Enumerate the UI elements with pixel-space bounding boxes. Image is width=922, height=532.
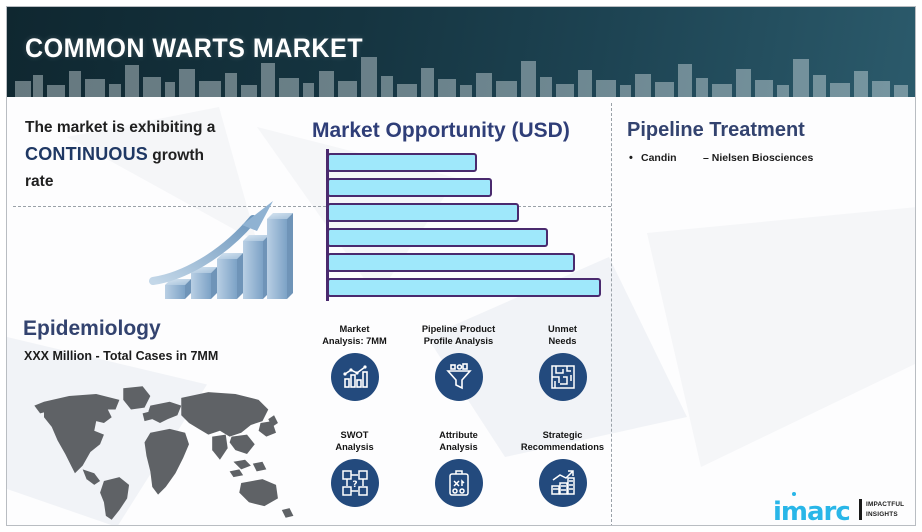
- pipeline-drug-name: Candin: [641, 152, 703, 164]
- intro-line-3: rate: [25, 173, 53, 190]
- grid-item-strategic-recommendations[interactable]: Strategic Recommendations: [512, 429, 613, 507]
- grid-label-line1: Strategic: [512, 429, 613, 441]
- logo-tagline: IMPACTFUL INSIGHTS: [866, 500, 904, 519]
- world-map-icon: [15, 379, 305, 526]
- clipboard-strategy-icon: [435, 459, 483, 507]
- chart-bar-4: [327, 228, 548, 247]
- bullet-icon: •: [629, 152, 641, 165]
- grid-label-line2: Analysis: [408, 441, 509, 453]
- grid-label-line1: SWOT: [304, 429, 405, 441]
- chart-bar-3: [327, 203, 519, 222]
- grid-label-line2: Analysis: 7MM: [304, 335, 405, 347]
- imarc-logo: imarc IMPACTFUL INSIGHTS: [773, 491, 913, 526]
- maze-icon: [539, 353, 587, 401]
- slide-frame: COMMON WARTS MARKET The market is exhibi…: [6, 6, 916, 526]
- logo-dot-icon: [792, 492, 796, 496]
- market-opportunity-chart: [320, 149, 610, 307]
- pipeline-treatment-title: Pipeline Treatment: [627, 119, 805, 142]
- grid-label-line1: Unmet: [512, 323, 613, 335]
- logo-separator: [859, 499, 862, 520]
- intro-highlight: CONTINUOUS: [25, 144, 148, 164]
- grid-label-line1: Pipeline Product: [408, 323, 509, 335]
- grid-label-line1: Attribute: [408, 429, 509, 441]
- chart-bar-5: [327, 253, 575, 272]
- svg-text:?: ?: [352, 480, 357, 490]
- growth-arrow-bars-icon: [147, 185, 297, 305]
- bar-chart-trend-icon: [331, 353, 379, 401]
- market-opportunity-title: Market Opportunity (USD): [312, 119, 570, 143]
- intro-text-block: The market is exhibiting a CONTINUOUS gr…: [25, 115, 275, 195]
- epidemiology-subtitle: XXX Million - Total Cases in 7MM: [24, 349, 218, 363]
- analysis-icon-grid: Market Analysis: 7MM Pipeline Product: [304, 323, 609, 526]
- growth-bars-arrow-icon: [539, 459, 587, 507]
- grid-label-line2: Recommendations: [512, 441, 613, 453]
- pipeline-company-name: – Nielsen Biosciences: [703, 152, 813, 164]
- chart-bar-6: [327, 278, 601, 297]
- grid-item-attribute-analysis[interactable]: Attribute Analysis: [408, 429, 509, 507]
- chart-bar-1: [327, 153, 477, 172]
- list-item: • Candin – Nielsen Biosciences: [629, 152, 909, 165]
- bg-polygon-3: [647, 207, 916, 467]
- slide-header: COMMON WARTS MARKET: [7, 7, 915, 97]
- slide-page: COMMON WARTS MARKET The market is exhibi…: [0, 0, 922, 532]
- grid-item-market-analysis[interactable]: Market Analysis: 7MM: [304, 323, 405, 401]
- logo-wordmark: imarc: [773, 497, 850, 526]
- page-title: COMMON WARTS MARKET: [25, 33, 363, 64]
- grid-label-line2: Needs: [512, 335, 613, 347]
- logo-tagline-line1: IMPACTFUL: [866, 500, 904, 510]
- intro-line-1: The market is exhibiting a: [25, 119, 215, 136]
- pipeline-treatment-list: • Candin – Nielsen Biosciences: [629, 152, 909, 165]
- grid-item-swot-analysis[interactable]: SWOT Analysis ?: [304, 429, 405, 507]
- grid-item-unmet-needs[interactable]: Unmet Needs: [512, 323, 613, 401]
- grid-label-line2: Profile Analysis: [408, 335, 509, 347]
- intro-line-2: growth: [148, 147, 204, 164]
- chart-bar-2: [327, 178, 492, 197]
- funnel-icon: [435, 353, 483, 401]
- grid-label-line2: Analysis: [304, 441, 405, 453]
- grid-label-line1: Market: [304, 323, 405, 335]
- logo-tagline-line2: INSIGHTS: [866, 510, 904, 520]
- swot-quadrant-arrows-icon: ?: [331, 459, 379, 507]
- grid-item-pipeline-product-profile-analysis[interactable]: Pipeline Product Profile Analysis: [408, 323, 509, 401]
- epidemiology-title: Epidemiology: [23, 317, 161, 341]
